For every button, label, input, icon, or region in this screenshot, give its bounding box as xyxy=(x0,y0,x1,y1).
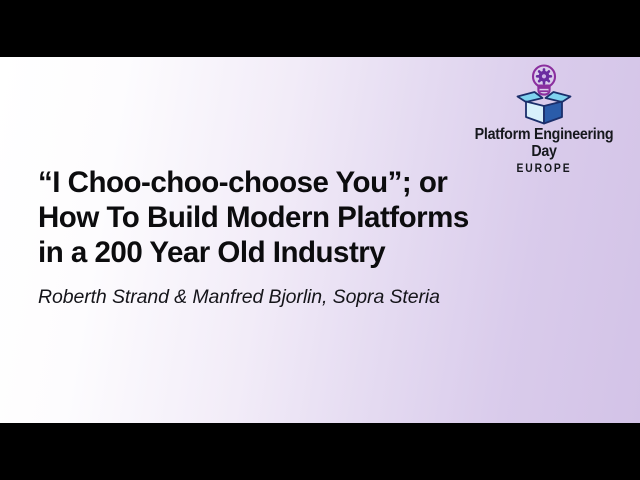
event-logo: Platform Engineering Day EUROPE xyxy=(460,61,628,176)
video-frame: Platform Engineering Day EUROPE “I Choo-… xyxy=(0,0,640,480)
lightbulb-gear-in-open-box-icon xyxy=(460,61,628,125)
title-line-1: “I Choo-choo-choose You”; or xyxy=(38,165,538,200)
presentation-slide: Platform Engineering Day EUROPE “I Choo-… xyxy=(0,57,640,423)
slide-title: “I Choo-choo-choose You”; or How To Buil… xyxy=(38,165,538,270)
logo-wordmark: Platform Engineering Day xyxy=(467,126,622,160)
slide-speakers: Roberth Strand & Manfred Bjorlin, Sopra … xyxy=(38,285,440,309)
letterbox-top xyxy=(0,0,640,57)
letterbox-bottom xyxy=(0,423,640,480)
title-line-3: in a 200 Year Old Industry xyxy=(38,235,538,270)
title-line-2: How To Build Modern Platforms xyxy=(38,200,538,235)
